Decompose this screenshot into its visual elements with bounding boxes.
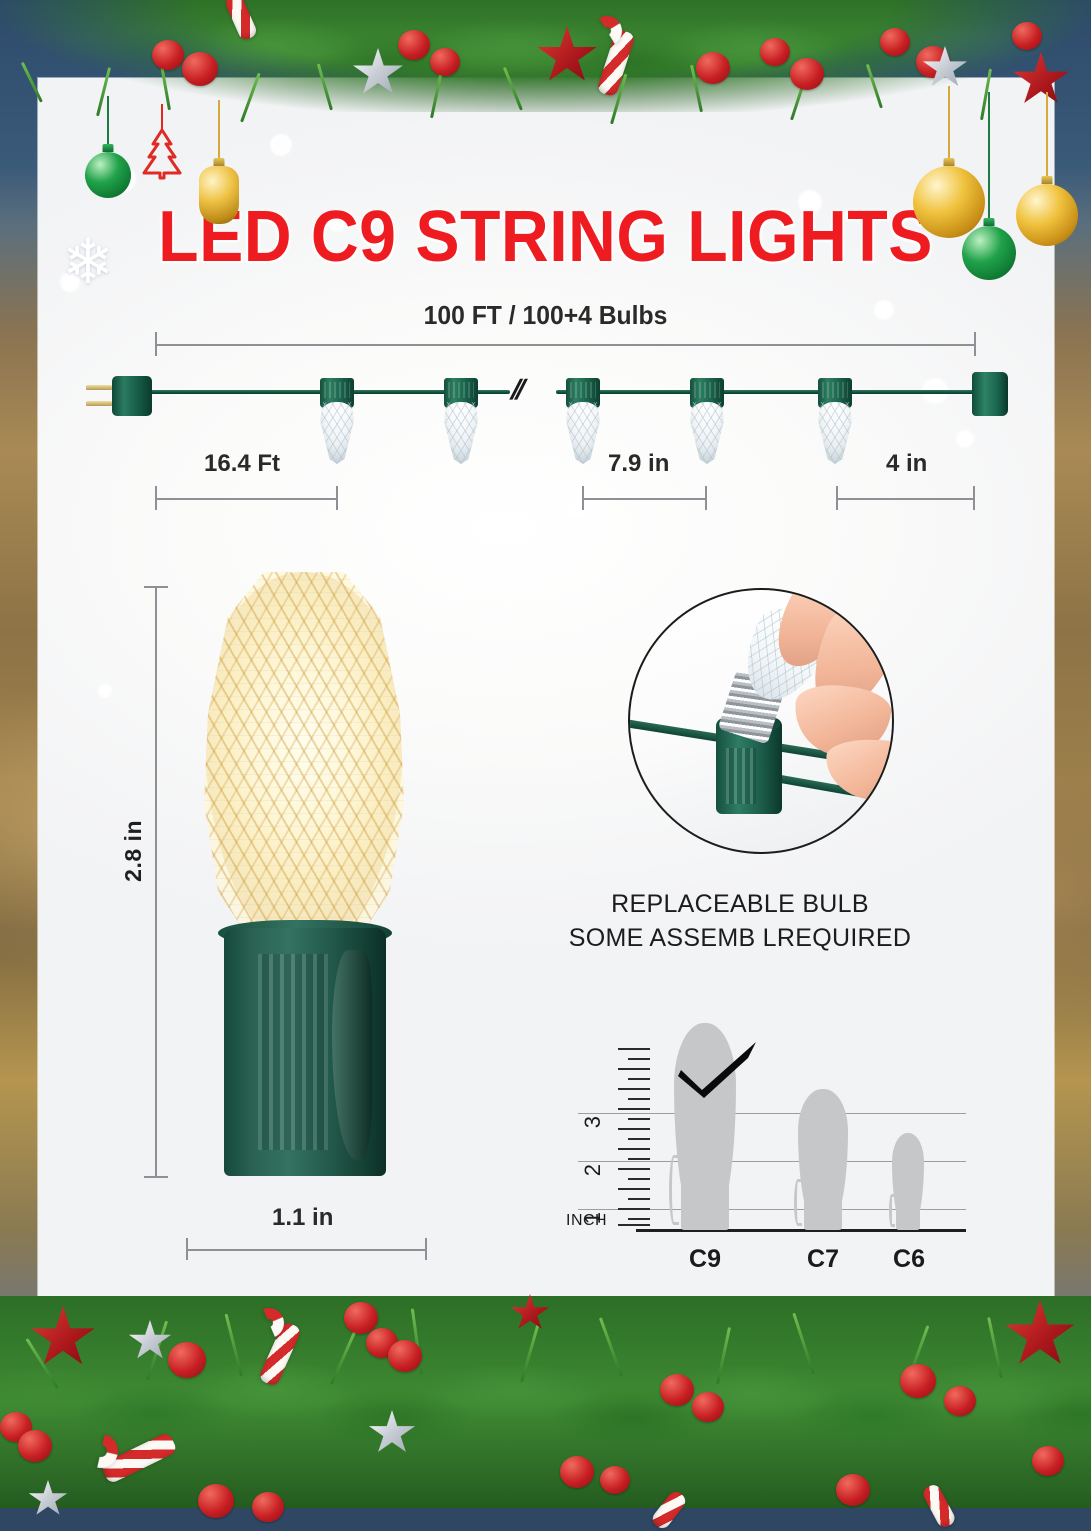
ruler-tick-2: 2: [580, 1164, 606, 1176]
bulb-silhouette-c6: [892, 1133, 924, 1229]
ruler-tick: [618, 1128, 650, 1130]
bulb-height-label: 2.8 in: [120, 820, 147, 882]
plug-prong: [86, 385, 112, 390]
ornament-ball: [962, 226, 1016, 280]
mini-bulb: [444, 402, 478, 464]
dimension-tick: [336, 486, 338, 510]
bulb-size-comparison-chart: 3 2 1 INCH C9: [566, 1022, 966, 1274]
ruler-tick-3: 3: [580, 1116, 606, 1128]
ruler-tick: [628, 1058, 650, 1060]
ruler-tick: [628, 1118, 650, 1120]
bulb-socket-body: [224, 928, 386, 1176]
ruler-tick: [628, 1178, 650, 1180]
ornament-thread: [107, 96, 109, 148]
male-plug-icon: [112, 376, 152, 416]
lead-length-label: 16.4 Ft: [204, 450, 280, 478]
ruler-unit-label: INCH: [566, 1212, 607, 1230]
bulb-clip-silhouette: [669, 1155, 679, 1225]
ruler-tick: [618, 1148, 650, 1150]
ornament-cap: [214, 158, 225, 166]
ruler-tick: [628, 1098, 650, 1100]
bulb-width-label: 1.1 in: [272, 1204, 333, 1232]
replaceable-bulb-photo: [628, 588, 894, 854]
ruler-tick: [628, 1158, 650, 1160]
ornament-ball: [1016, 184, 1078, 246]
ruler-tick: [618, 1088, 650, 1090]
ornament-thread: [948, 86, 950, 162]
ruler-tick: [628, 1198, 650, 1200]
dimension-tick: [144, 586, 168, 588]
total-dimension-line: [155, 344, 975, 346]
ruler-tick-marks: [618, 1048, 650, 1226]
dimension-tick: [155, 486, 157, 510]
green-ball-ornament-right: [960, 92, 1018, 298]
red-tree-ornament: [140, 104, 184, 178]
checkmark-icon: [678, 1040, 760, 1100]
chart-category-c9: C9: [670, 1245, 740, 1274]
ruler-tick: [618, 1208, 650, 1210]
ornament-ball: [85, 152, 131, 198]
string-light-diagram: 100 FT / 100+4 Bulbs // 16.4 Ft 7.9 in 4…: [0, 300, 1091, 520]
ruler-tick: [618, 1224, 650, 1226]
dimension-tick: [974, 332, 976, 356]
gold-ball-ornament-right: [1014, 92, 1080, 288]
height-dimension-line: [155, 586, 157, 1178]
bulb-clip-silhouette: [889, 1194, 894, 1227]
ornament-cap: [944, 158, 955, 166]
ruler-tick: [618, 1048, 650, 1050]
dimension-tick: [582, 486, 584, 510]
mini-bulb: [566, 402, 600, 464]
chart-category-c7: C7: [790, 1245, 856, 1274]
bulb-spacing-label: 7.9 in: [608, 450, 669, 478]
tail-length-label: 4 in: [886, 450, 927, 478]
ornament-thread: [1046, 92, 1048, 180]
dimension-tick: [186, 1238, 188, 1260]
ornament-thread: [218, 100, 220, 162]
mini-bulb: [690, 402, 724, 464]
page-title: LED C9 STRING LIGHTS: [44, 196, 1048, 278]
dimension-tick: [705, 486, 707, 510]
bokeh-dot: [270, 134, 292, 156]
tree-icon: [140, 128, 184, 180]
ornament-cap: [103, 144, 114, 152]
ruler-tick: [628, 1218, 650, 1220]
dimension-tick: [973, 486, 975, 510]
bulb-cap-silhouette: [896, 1197, 920, 1230]
bulb-clip-silhouette: [794, 1179, 802, 1227]
replaceable-bulb-caption: REPLACEABLE BULB SOME ASSEMB LREQUIRED: [500, 888, 980, 956]
lantern-body: [199, 166, 239, 224]
mini-bulb: [818, 402, 852, 464]
lead-dimension-line: [155, 498, 337, 500]
chart-category-c6: C6: [878, 1245, 940, 1274]
ornament-thread: [988, 92, 990, 222]
ruler-tick: [618, 1108, 650, 1110]
ornament-cap: [984, 218, 995, 226]
bulb-cap-silhouette: [681, 1160, 728, 1230]
bokeh-dot: [98, 684, 112, 698]
ruler-tick: [618, 1188, 650, 1190]
dimension-tick: [155, 332, 157, 356]
ruler-tick: [618, 1168, 650, 1170]
plug-prong: [86, 401, 112, 406]
tail-dimension-line: [836, 498, 974, 500]
mini-bulb: [320, 402, 354, 464]
total-length-label: 100 FT / 100+4 Bulbs: [27, 300, 1063, 331]
female-connector-icon: [972, 372, 1008, 416]
ruler-tick: [628, 1138, 650, 1140]
ruler-tick: [628, 1078, 650, 1080]
ruler-tick: [618, 1068, 650, 1070]
replaceable-line-2: SOME ASSEMB LREQUIRED: [500, 922, 980, 956]
bulb-silhouette-c7: [798, 1089, 848, 1229]
width-dimension-line: [186, 1249, 426, 1251]
snowflake-icon: ❄: [62, 232, 114, 294]
dimension-tick: [836, 486, 838, 510]
bulb-cap-silhouette: [804, 1182, 842, 1230]
large-bulb-illustration: [196, 572, 412, 1182]
replaceable-line-1: REPLACEABLE BULB: [500, 888, 980, 922]
dimension-tick: [425, 1238, 427, 1260]
light-string-wire: [556, 390, 976, 394]
green-ball-ornament: [88, 96, 128, 206]
dimension-tick: [144, 1176, 168, 1178]
bulb-glass-faceted: [204, 572, 404, 944]
break-symbol: //: [507, 374, 527, 406]
gold-lantern-ornament: [196, 100, 242, 230]
spacing-dimension-line: [582, 498, 706, 500]
ornament-cap: [1042, 176, 1053, 184]
